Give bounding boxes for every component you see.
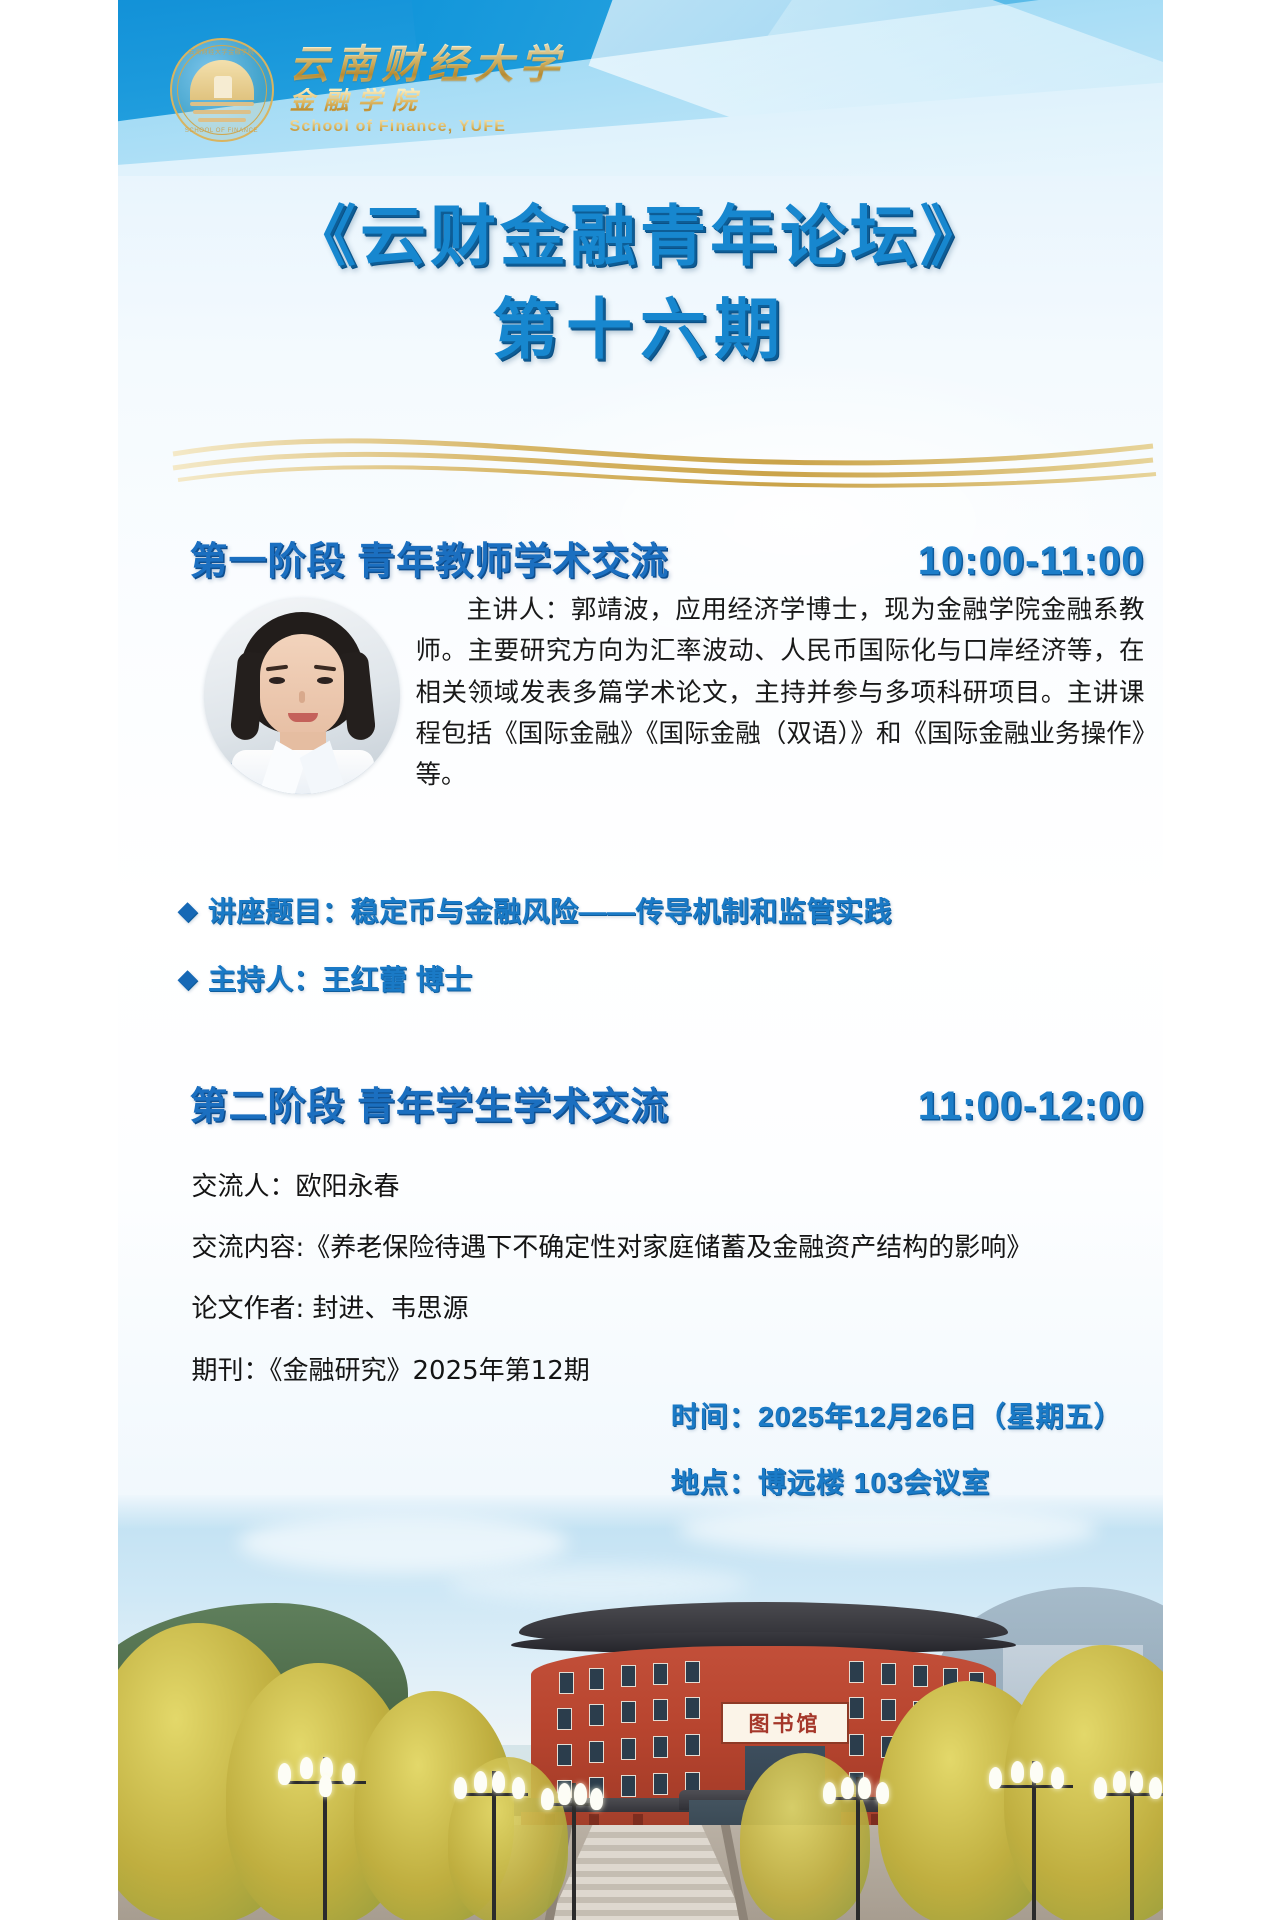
stage2-authors: 论文作者: 封进、韦思源: [192, 1294, 1092, 1325]
stage-1-time: 10:00-11:00: [918, 539, 1145, 584]
lecture-bullet-list: ◆ 讲座题目：稳定币与金融风险——传导机制和监管实践 ◆ 主持人：王红蕾 博士: [178, 890, 1153, 1026]
photo-lamp-post-4: [818, 1777, 898, 1920]
poster-header: 云南财经大学金融学院 SCHOOL OF FINANCE 云南财经大学 金融学院…: [118, 0, 1163, 180]
portrait-nose: [299, 691, 305, 703]
event-time: 时间：2025年12月26日（星期五）: [671, 1395, 1123, 1435]
seal-top-text: 云南财经大学金融学院: [170, 47, 274, 56]
stage2-journal: 期刊：《金融研究》2025年第12期: [192, 1356, 1092, 1387]
diamond-bullet-icon: ◆: [178, 965, 199, 991]
school-name-en: School of Finance, YUFE: [290, 117, 566, 136]
portrait-eye-right: [317, 677, 333, 684]
diamond-bullet-icon: ◆: [178, 897, 199, 923]
stage-2-time: 11:00-12:00: [918, 1084, 1145, 1129]
seal-wave-2: [193, 110, 251, 114]
school-name-cn: 金融学院: [290, 88, 566, 117]
stage-2-label: 第二阶段 青年学生学术交流: [190, 1075, 670, 1130]
host-text: 主持人：王红蕾 博士: [208, 958, 473, 998]
stage2-content: 交流内容:《养老保险待遇下不确定性对家庭储蓄及金融资产结构的影响》: [192, 1233, 1092, 1264]
university-logo: 云南财经大学金融学院 SCHOOL OF FINANCE 云南财经大学 金融学院…: [170, 38, 566, 142]
stage-2-details: 交流人：欧阳永春 交流内容:《养老保险待遇下不确定性对家庭储蓄及金融资产结构的影…: [192, 1172, 1092, 1417]
seal-wave-3: [198, 118, 246, 122]
lecture-topic-text: 讲座题目：稳定币与金融风险——传导机制和监管实践: [208, 890, 892, 930]
photo-lamp-post-1: [270, 1757, 380, 1920]
event-info-block: 时间：2025年12月26日（星期五） 地点：博远楼 103会议室: [671, 1395, 1123, 1527]
photo-lamp-post-2: [448, 1771, 540, 1920]
title-block: 《云财金融青年论坛》 第十六期: [118, 196, 1163, 369]
section-header-stage-2: 第二阶段 青年学生学术交流 11:00-12:00: [190, 1075, 1145, 1130]
photo-lamp-post-5: [982, 1761, 1086, 1920]
speaker-block: 主讲人：郭靖波，应用经济学博士，现为金融学院金融系教师。主要研究方向为汇率波动、…: [190, 590, 1145, 798]
bullet-lecture-topic: ◆ 讲座题目：稳定币与金融风险——传导机制和监管实践: [178, 890, 1153, 930]
photo-lamp-post-6: [1088, 1771, 1163, 1920]
stage-1-label: 第一阶段 青年教师学术交流: [190, 530, 670, 585]
seal-gate-shape: [214, 76, 232, 98]
photo-cloud-3: [448, 1565, 748, 1603]
university-seal-icon: 云南财经大学金融学院 SCHOOL OF FINANCE: [170, 38, 274, 142]
section-header-stage-1: 第一阶段 青年教师学术交流 10:00-11:00: [190, 530, 1145, 585]
portrait-mouth: [288, 713, 318, 722]
forum-title: 《云财金融青年论坛》: [118, 196, 1163, 277]
campus-photo: 图书馆: [118, 1495, 1163, 1920]
speaker-portrait-avatar: [204, 598, 400, 794]
logo-text-group: 云南财经大学 金融学院 School of Finance, YUFE: [290, 43, 566, 136]
event-place: 地点：博远楼 103会议室: [671, 1461, 1123, 1501]
seal-wave-1: [190, 102, 254, 106]
stage2-presenter: 交流人：欧阳永春: [192, 1172, 1092, 1203]
portrait-eye-left: [269, 677, 285, 684]
building-name-sign: 图书馆: [721, 1702, 849, 1744]
seal-bottom-text: SCHOOL OF FINANCE: [170, 128, 274, 134]
portrait-face: [260, 634, 344, 738]
university-name-cn: 云南财经大学: [290, 43, 566, 86]
gold-wave-divider: [118, 418, 1163, 488]
photo-lamp-post-3: [536, 1783, 612, 1920]
forum-issue-no: 第十六期: [118, 289, 1163, 370]
poster-root: 云南财经大学金融学院 SCHOOL OF FINANCE 云南财经大学 金融学院…: [118, 0, 1163, 1920]
bullet-host: ◆ 主持人：王红蕾 博士: [178, 958, 1153, 998]
